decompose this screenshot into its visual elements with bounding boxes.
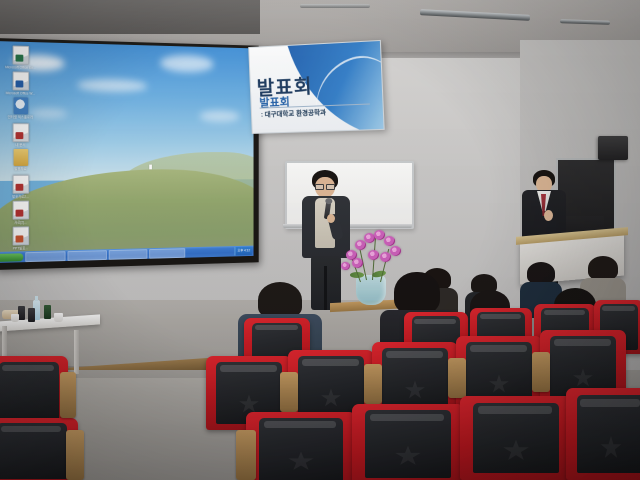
glasses-icon (315, 184, 335, 188)
seat-armrest (280, 372, 298, 412)
seat-armrest (60, 372, 76, 418)
audience-hair (258, 282, 302, 318)
taskbar-window-button[interactable] (149, 248, 185, 259)
paper-cup (54, 313, 63, 322)
presenter (300, 170, 356, 312)
table-leg (74, 330, 79, 374)
desktop-icon-label: 인터넷 익스플로러 (1, 115, 40, 119)
seat-armrest (448, 358, 466, 398)
taskbar-window-button[interactable] (109, 249, 148, 260)
orchid-flower (384, 236, 395, 246)
auditorium-seat (460, 396, 572, 480)
auditorium-seat (352, 404, 464, 480)
attendee-hand (544, 210, 553, 221)
folder-icon (13, 149, 28, 166)
taskbar-window-button[interactable] (25, 251, 65, 262)
desktop-icon[interactable]: Microsoft Office Ex... (1, 45, 40, 70)
desktop-icon-label: 발표자료 (1, 167, 40, 171)
seat-armrest (66, 430, 84, 480)
orchid-flower (352, 258, 363, 268)
excel-file-icon (12, 45, 29, 64)
drink-can (28, 308, 35, 322)
hwp-file-icon (12, 123, 29, 142)
orchid-flower (355, 240, 366, 250)
desktop-icon[interactable]: 발표자료 (1, 149, 40, 171)
powerpoint-file-icon (12, 226, 29, 245)
internet-explorer-icon (13, 97, 28, 114)
orchid-flower (341, 262, 350, 270)
auditorium-seat (566, 388, 640, 480)
hwp-file-icon (12, 175, 29, 194)
desktop-icon[interactable]: PPT발표... (1, 226, 40, 251)
paper-cup (11, 314, 19, 322)
taskbar-window-button[interactable] (67, 250, 106, 261)
seat-armrest (236, 430, 256, 480)
seminar-room-photo: Microsoft Office Ex... Microsoft Office … (0, 0, 640, 480)
audience-hair (588, 256, 618, 280)
ceiling-recess (0, 0, 260, 34)
start-button[interactable] (0, 253, 23, 262)
desktop-icon[interactable]: 내 문서 (1, 123, 40, 147)
ceiling-light-icon (300, 4, 370, 8)
desktop-icon[interactable]: Microsoft Office W... (1, 71, 40, 96)
seat-armrest (532, 352, 550, 392)
event-banner: 발표회 발표회 : 대구대학교 환경공학과 (248, 40, 385, 134)
hwp-file-icon (12, 201, 29, 220)
desktop-icon-label: Microsoft Office W... (1, 91, 40, 96)
desktop-icon-label: Microsoft Office Ex... (1, 65, 40, 70)
orchid-flower (380, 252, 391, 262)
drink-can (44, 305, 51, 319)
wall-speaker (598, 136, 628, 160)
projection-screen: Microsoft Office Ex... Microsoft Office … (0, 38, 259, 270)
audience-hair (527, 262, 555, 284)
desktop-icon[interactable]: 인터넷 익스플로러 (1, 97, 40, 119)
drink-can (18, 306, 25, 320)
audience-hair (394, 272, 440, 314)
taskbar-clock: 오후 4:12 (237, 248, 250, 253)
projected-desktop: Microsoft Office Ex... Microsoft Office … (0, 41, 254, 263)
presenter-hand (327, 214, 335, 223)
word-file-icon (12, 71, 29, 90)
desktop-icon-label: 내 문서 (1, 143, 40, 147)
auditorium-seat (246, 412, 356, 480)
desktop-icon-label: 발표자료2... (1, 195, 40, 199)
desktop-icon[interactable]: 자료[2]... (1, 200, 40, 224)
mouse-cursor-icon (150, 165, 153, 170)
desktop-icon-label: 자료[2]... (1, 220, 40, 225)
seat-armrest (364, 364, 382, 404)
desktop-icon[interactable]: 발표자료2... (1, 175, 40, 199)
orchid-flower (368, 250, 379, 260)
orchid-flower (390, 246, 401, 256)
system-tray[interactable]: 오후 4:12 (235, 247, 252, 256)
